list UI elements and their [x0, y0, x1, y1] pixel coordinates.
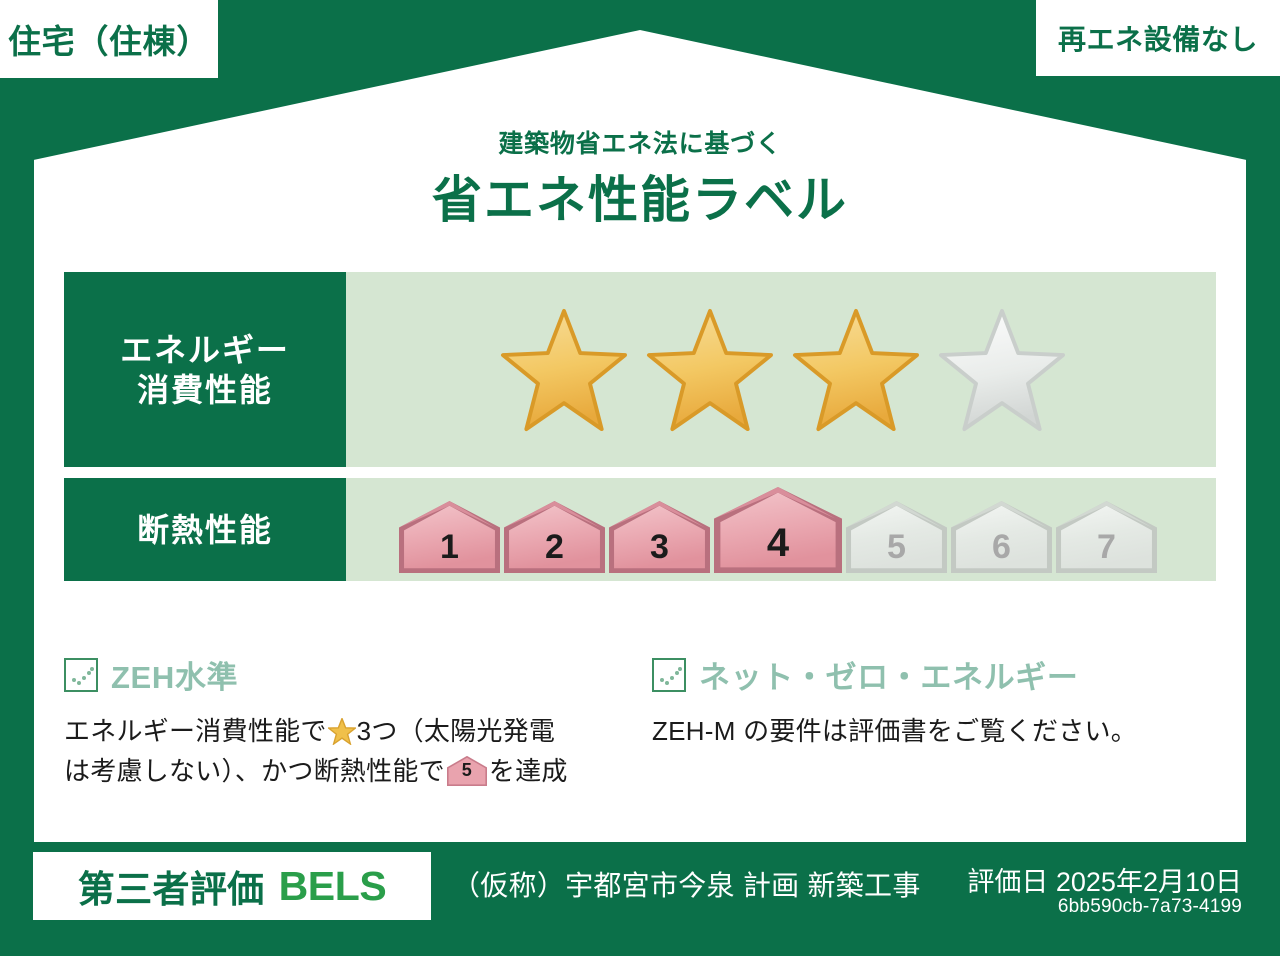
- chart-dots-icon: [652, 658, 686, 692]
- bels-energy-label: 住宅（住棟） 再エネ設備なし 建築物省エネ法に基づく 省エネ性能ラベル エネルギ…: [0, 0, 1280, 956]
- energy-performance-body: [346, 272, 1216, 467]
- star-filled-icon: [498, 307, 630, 433]
- insulation-level-4: 4: [714, 487, 842, 573]
- evaluation-date: 評価日 2025年2月10日: [967, 860, 1242, 899]
- zeh-standard-body-part1: エネルギー消費性能で: [64, 716, 327, 746]
- star-rating: [498, 307, 1068, 433]
- insulation-level-5: 5: [846, 501, 947, 573]
- insulation-level-2: 2: [504, 501, 605, 573]
- insulation-level-6: 6: [951, 501, 1052, 573]
- net-zero-energy-title: ネット・ゼロ・エネルギー: [699, 652, 1078, 697]
- insulation-performance-label-text: 断熱性能: [137, 510, 273, 550]
- star-filled-icon: [644, 307, 776, 433]
- footer-bar: 第三者評価 BELS （仮称）宇都宮市今泉 計画 新築工事 評価日 2025年2…: [0, 842, 1280, 956]
- energy-performance-label-line2: 消費性能: [137, 370, 273, 410]
- zeh-standard-title: ZEH水準: [111, 652, 238, 697]
- star-empty-icon: [936, 307, 1068, 433]
- inline-house-badge-number: 5: [447, 757, 487, 785]
- bels-logo-jp: 第三者評価: [78, 859, 265, 913]
- zeh-standard-body-part2: は考慮しない）、かつ断熱性能で: [64, 756, 445, 786]
- badge-renewable-energy: 再エネ設備なし: [1036, 0, 1280, 76]
- net-zero-energy-heading: ネット・ゼロ・エネルギー: [652, 652, 1212, 697]
- evaluation-id: 6bb590cb-7a73-4199: [1058, 896, 1242, 918]
- insulation-level-7: 7: [1056, 501, 1157, 573]
- badge-building-type-label: 住宅（住棟）: [8, 15, 210, 63]
- zeh-standard-body-star-count: 3つ（太陽光発電: [357, 716, 556, 746]
- chart-dots-icon: [64, 658, 98, 692]
- energy-performance-row: エネルギー 消費性能: [64, 272, 1216, 467]
- insulation-performance-label: 断熱性能: [64, 478, 346, 581]
- badge-building-type: 住宅（住棟）: [0, 0, 218, 78]
- title-subtitle: 建築物省エネ法に基づく: [0, 124, 1280, 160]
- zeh-standard-body: エネルギー消費性能で 3つ（太陽光発電 は考慮しない）、かつ断熱性能で 5 を達…: [64, 711, 624, 792]
- energy-performance-label: エネルギー 消費性能: [64, 272, 346, 467]
- zeh-standard-body-part3: を達成: [489, 756, 568, 786]
- inline-house-badge: 5: [447, 756, 487, 786]
- bels-logo-en: BELS: [279, 863, 387, 910]
- star-filled-icon: [790, 307, 922, 433]
- net-zero-energy-note: ネット・ゼロ・エネルギー ZEH-M の要件は評価書をご覧ください。: [652, 652, 1212, 751]
- insulation-level-3: 3: [609, 501, 710, 573]
- badge-renewable-energy-label: 再エネ設備なし: [1058, 18, 1258, 58]
- net-zero-energy-body: ZEH-M の要件は評価書をご覧ください。: [652, 711, 1212, 751]
- project-name: （仮称）宇都宮市今泉 計画 新築工事: [452, 864, 921, 904]
- bels-logo: 第三者評価 BELS: [33, 852, 431, 920]
- insulation-performance-row: 断熱性能 1234567: [64, 478, 1216, 581]
- insulation-performance-body: 1234567: [346, 478, 1216, 581]
- insulation-level-scale: 1234567: [399, 487, 1157, 573]
- energy-performance-label-line1: エネルギー: [120, 330, 290, 370]
- zeh-standard-note: ZEH水準 エネルギー消費性能で 3つ（太陽光発電 は考慮しない）、かつ断熱性能…: [64, 652, 624, 792]
- title-main: 省エネ性能ラベル: [0, 160, 1280, 232]
- zeh-standard-heading: ZEH水準: [64, 652, 624, 697]
- insulation-level-1: 1: [399, 501, 500, 573]
- inline-star-icon: [328, 716, 356, 743]
